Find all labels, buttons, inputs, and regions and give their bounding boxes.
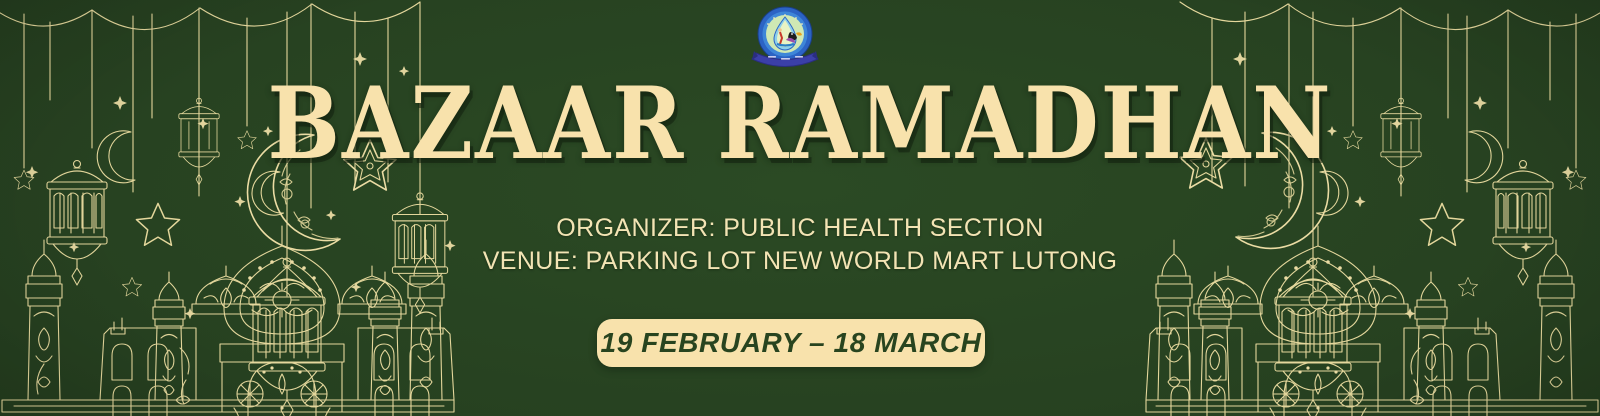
organizer-line: ORGANIZER: PUBLIC HEALTH SECTION <box>0 212 1600 245</box>
date-range-badge: 19 FEBRUARY – 18 MARCH <box>597 319 985 367</box>
title-text: BAZAAR RAMADHAN <box>267 67 1332 180</box>
municipal-council-crest-logo <box>740 4 830 70</box>
date-range-text: 19 FEBRUARY – 18 MARCH <box>601 327 982 359</box>
page-title: BAZAAR RAMADHAN <box>0 76 1600 172</box>
ramadan-bazaar-banner: BAZAAR RAMADHAN ORGANIZER: PUBLIC HEALTH… <box>0 0 1600 416</box>
venue-line: VENUE: PARKING LOT NEW WORLD MART LUTONG <box>0 245 1600 278</box>
content-layer: BAZAAR RAMADHAN ORGANIZER: PUBLIC HEALTH… <box>0 0 1600 416</box>
